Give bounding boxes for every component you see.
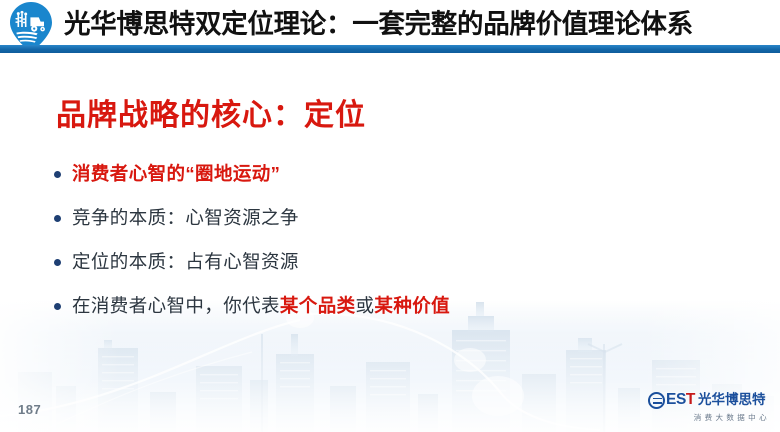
section-heading: 品牌战略的核心：定位: [56, 90, 366, 134]
bullet-dot-icon: [54, 171, 61, 178]
brand-logo: EST 光华博思特 消费大数据中心: [648, 390, 772, 424]
page-number: 187: [18, 402, 41, 417]
bullet-text-2: 竞争的本质：心智资源之争: [72, 207, 299, 228]
logo-letter-e: E: [666, 391, 676, 408]
logo-letter-s: S: [676, 391, 686, 408]
bullet-text-4-part-2: 或: [356, 295, 375, 316]
slide-header: 光华博思特双定位理论：一套完整的品牌价值理论体系: [0, 0, 780, 54]
list-item: 在消费者心智中，你代表某个品类或某种价值: [50, 284, 750, 328]
bullet-list: 消费者心智的“圈地运动” 竞争的本质：心智资源之争 定位的本质：占有心智资源 在…: [50, 152, 750, 328]
page-title: 光华博思特双定位理论：一套完整的品牌价值理论体系: [64, 4, 774, 44]
bullet-dot-icon: [54, 259, 61, 266]
bullet-text-3: 定位的本质：占有心智资源: [72, 251, 299, 272]
logo-letter-t: T: [686, 391, 695, 408]
slide-canvas: 光华博思特双定位理论：一套完整的品牌价值理论体系 品牌战略的核心：定位 消费者心…: [0, 0, 780, 432]
logo-subtitle: 消费大数据中心: [648, 412, 772, 423]
bullet-dot-icon: [54, 303, 61, 310]
best-circle-mark-icon: [648, 392, 665, 409]
bullet-text-4-part-1: 在消费者心智中，你代表: [72, 295, 280, 316]
bullet-dot-icon: [54, 215, 61, 222]
list-item: 定位的本质：占有心智资源: [50, 240, 750, 284]
list-item: 竞争的本质：心智资源之争: [50, 196, 750, 240]
bullet-text-4-highlight-1: 某个品类: [280, 295, 356, 316]
header-divider-bar: [0, 45, 780, 53]
logo-chinese-name: 光华博思特: [698, 391, 766, 409]
bullet-text-1: 消费者心智的“圈地运动”: [72, 163, 280, 184]
slide-body: 品牌战略的核心：定位 消费者心智的“圈地运动” 竞争的本质：心智资源之争 定位的…: [0, 54, 780, 432]
bullet-text-4-highlight-2: 某种价值: [374, 295, 450, 316]
list-item: 消费者心智的“圈地运动”: [50, 152, 750, 196]
